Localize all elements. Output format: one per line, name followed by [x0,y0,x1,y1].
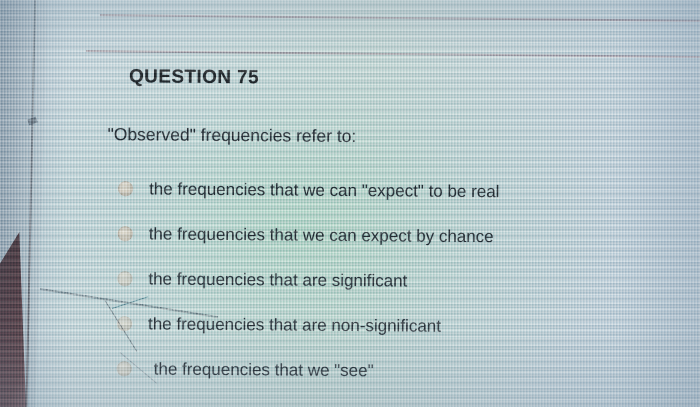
answer-option-row[interactable]: the frequencies that are significant [117,256,657,305]
radio-button-unselected-icon[interactable] [117,316,132,331]
radio-button-unselected-icon[interactable] [117,271,132,286]
answer-options-list: the frequencies that we can "expect" to … [117,166,659,395]
lcd-screen-photo: QUESTION 75 "Observed" frequencies refer… [0,0,700,407]
answer-option-label: the frequencies that are significant [148,269,407,291]
radio-button-unselected-icon[interactable] [117,361,132,376]
answer-option-label: the frequencies that we "see" [154,359,374,381]
answer-option-row[interactable]: the frequencies that we can expect by ch… [118,211,658,260]
answer-option-label: the frequencies that we can "expect" to … [149,179,500,202]
radio-button-unselected-icon[interactable] [118,181,133,196]
question-stem-text: "Observed" frequencies refer to: [107,124,356,147]
quiz-question-panel: QUESTION 75 "Observed" frequencies refer… [0,0,700,407]
answer-option-row[interactable]: the frequencies that we can "expect" to … [118,166,658,215]
question-number-heading: QUESTION 75 [129,66,259,89]
radio-button-unselected-icon[interactable] [118,226,133,241]
answer-option-row[interactable]: the frequencies that we "see" [117,346,657,395]
answer-option-label: the frequencies that we can expect by ch… [149,224,494,247]
answer-option-row[interactable]: the frequencies that are non-significant [117,301,657,350]
answer-option-label: the frequencies that are non-significant [148,314,441,336]
